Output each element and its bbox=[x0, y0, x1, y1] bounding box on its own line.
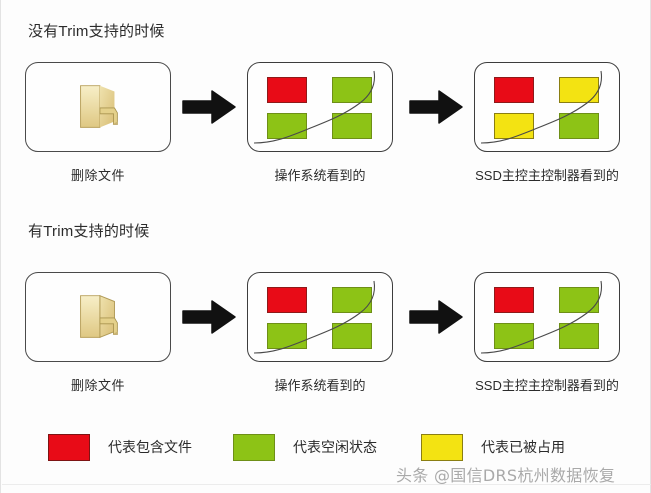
memory-block bbox=[559, 77, 599, 103]
memory-block bbox=[494, 77, 534, 103]
bottom-divider bbox=[2, 484, 651, 485]
memory-block bbox=[332, 287, 372, 313]
folder-icon bbox=[67, 76, 129, 138]
stage-ssd-view-row2: SSD主控主控制器看到的 bbox=[474, 272, 620, 394]
panel-ssd-view-row1 bbox=[474, 62, 620, 152]
section-title-no-trim: 没有Trim支持的时候 bbox=[28, 20, 165, 41]
panel-delete-file-row1 bbox=[25, 62, 171, 152]
legend-label-contains-file: 代表包含文件 bbox=[108, 437, 192, 457]
memory-block bbox=[267, 77, 307, 103]
arrow-right-icon bbox=[181, 88, 237, 126]
memory-block bbox=[332, 113, 372, 139]
legend-label-free-state: 代表空闲状态 bbox=[293, 437, 377, 457]
legend-label-occupied: 代表已被占用 bbox=[481, 437, 565, 457]
memory-block bbox=[559, 113, 599, 139]
memory-block bbox=[267, 323, 307, 349]
legend-swatch-green bbox=[233, 434, 275, 461]
folder-icon bbox=[67, 286, 129, 348]
memory-block bbox=[494, 113, 534, 139]
stage-os-view-row2: 操作系统看到的 bbox=[247, 272, 393, 394]
stage-label-ssd-view-row2: SSD主控主控制器看到的 bbox=[474, 375, 620, 394]
stage-delete-file-row2: 删除文件 bbox=[25, 272, 171, 394]
block-grid-os-row2 bbox=[248, 273, 392, 361]
memory-block bbox=[332, 77, 372, 103]
section-title-with-trim: 有Trim支持的时候 bbox=[28, 220, 149, 241]
memory-block bbox=[494, 323, 534, 349]
panel-delete-file-row2 bbox=[25, 272, 171, 362]
stage-label-ssd-view-row1: SSD主控主控制器看到的 bbox=[474, 165, 620, 184]
diagram-page: 没有Trim支持的时候 bbox=[0, 0, 651, 493]
panel-os-view-row2 bbox=[247, 272, 393, 362]
flow-row-with-trim: 删除文件 操作系统看到的 bbox=[1, 272, 651, 407]
memory-block bbox=[559, 323, 599, 349]
stage-ssd-view-row1: SSD主控主控制器看到的 bbox=[474, 62, 620, 184]
block-grid-ssd-row2 bbox=[475, 273, 619, 361]
arrow-right-icon bbox=[408, 88, 464, 126]
flow-row-no-trim: 删除文件 操作系统看到的 bbox=[1, 62, 651, 197]
stage-delete-file-row1: 删除文件 bbox=[25, 62, 171, 184]
legend-item-occupied: 代表已被占用 bbox=[421, 432, 565, 462]
panel-os-view-row1 bbox=[247, 62, 393, 152]
stage-label-delete-file-row1: 删除文件 bbox=[25, 165, 171, 184]
panel-ssd-view-row2 bbox=[474, 272, 620, 362]
stage-label-os-view-row2: 操作系统看到的 bbox=[247, 375, 393, 394]
memory-block bbox=[494, 287, 534, 313]
watermark-text: 头条 @国信DRS杭州数据恢复 bbox=[396, 462, 615, 486]
legend-swatch-yellow bbox=[421, 434, 463, 461]
memory-block bbox=[559, 287, 599, 313]
arrow-right-icon bbox=[408, 298, 464, 336]
stage-os-view-row1: 操作系统看到的 bbox=[247, 62, 393, 184]
block-grid-ssd-row1 bbox=[475, 63, 619, 151]
memory-block bbox=[332, 323, 372, 349]
arrow-right-icon bbox=[181, 298, 237, 336]
legend-item-free-state: 代表空闲状态 bbox=[233, 432, 377, 462]
block-grid-os-row1 bbox=[248, 63, 392, 151]
stage-label-delete-file-row2: 删除文件 bbox=[25, 375, 171, 394]
stage-label-os-view-row1: 操作系统看到的 bbox=[247, 165, 393, 184]
memory-block bbox=[267, 113, 307, 139]
legend-swatch-red bbox=[48, 434, 90, 461]
legend-item-contains-file: 代表包含文件 bbox=[48, 432, 192, 462]
memory-block bbox=[267, 287, 307, 313]
